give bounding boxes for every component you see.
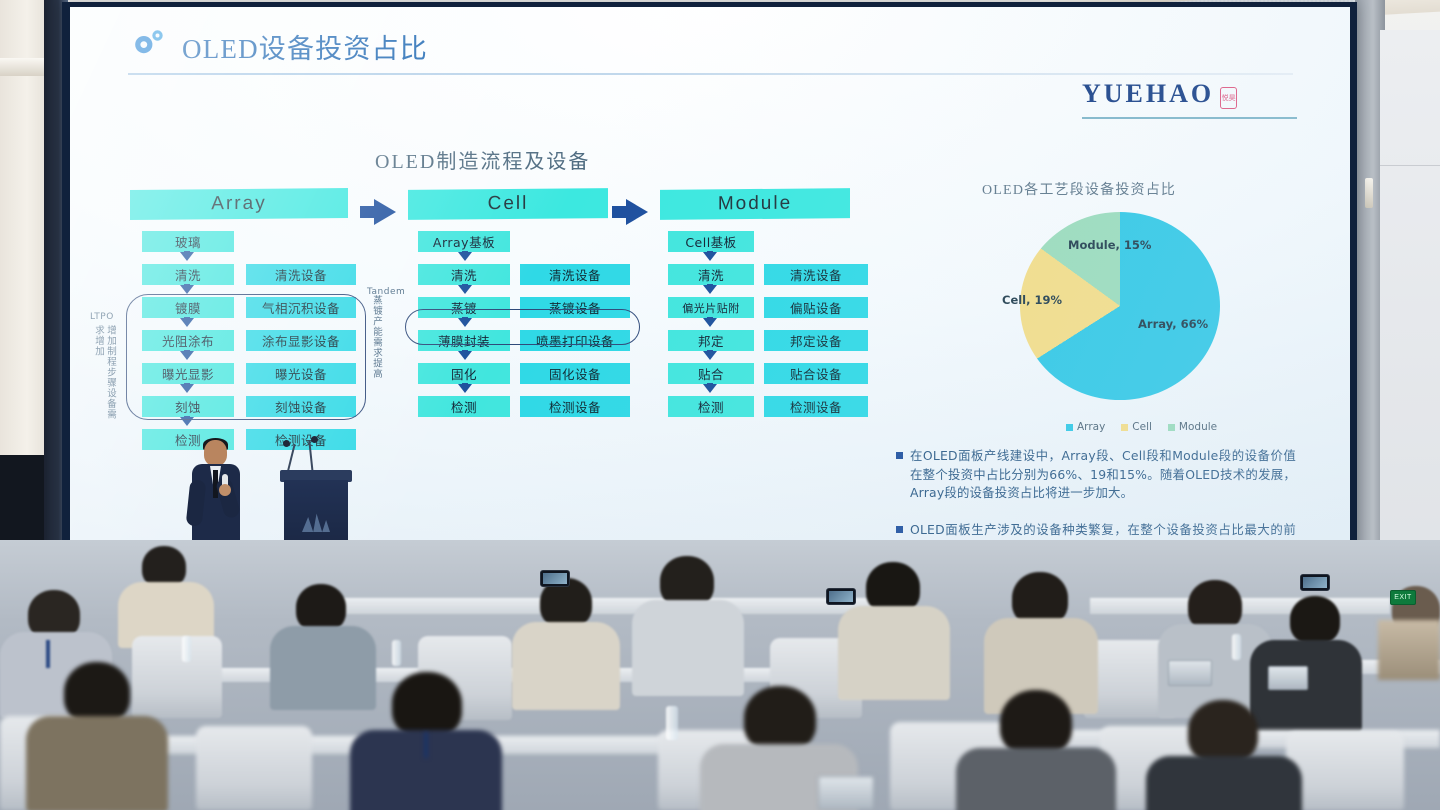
podium-mic-head-right [311,436,318,443]
lanyard [46,640,50,668]
audience-area [0,540,1440,810]
flow-row: 贴合 贴合设备 [660,363,850,396]
side-note-array: 增加制程步骤设备需求增加 [92,325,116,429]
side-note-cell: 蒸镀产能需求提高 [370,295,382,399]
stage-header-module: Module [660,188,850,220]
stage-connector-arrow-1 [374,199,396,225]
audience-shoulders [26,716,168,810]
pie-label-array: Array, 66% [1138,317,1208,331]
phone[interactable] [826,588,856,605]
chair [196,726,312,810]
audience-head [1188,700,1258,764]
audience-shoulders [270,626,376,710]
equipment-box: 检测设备 [764,396,868,417]
process-box: 清洗 [668,264,754,285]
equipment-box: 固化设备 [520,363,630,384]
equipment-box: 清洗设备 [246,264,356,285]
phone-screen [543,573,567,584]
legend-label-array: Array [1077,421,1105,433]
flow-row: 邦定 邦定设备 [660,330,850,363]
audience-head [1000,690,1072,756]
projection-screen: OLED设备投资占比 YUEHAO 悦昊 OLED制造流程及设备 Array 玻… [70,7,1350,585]
podium-mic-head-left [283,440,290,447]
phone-screen [829,591,853,602]
flow-row: 清洗 清洗设备 [408,264,608,297]
arrow-down-icon [703,252,717,261]
phone-screen [1303,577,1327,588]
audience-shoulders [1146,756,1302,810]
process-box: 贴合 [668,363,754,384]
flow-row: 偏光片贴附 偏贴设备 [660,297,850,330]
arrow-down-icon [703,285,717,294]
bullet-marker-icon [896,452,903,459]
laptop[interactable] [818,776,874,810]
process-box: 玻璃 [142,231,234,252]
audience-head [744,686,816,752]
wall-sconce [1365,178,1373,208]
arrow-down-icon [458,384,472,393]
highlight-ring-array [126,294,366,420]
chart-title: OLED各工艺段设备投资占比 [982,179,1176,199]
stage-header-array: Array [130,188,348,220]
side-note-label-ltpo: LTPO [90,312,114,322]
process-box: 偏光片贴附 [668,297,754,318]
stage-rows-module: Cell基板 清洗 清洗设备 偏光片贴附 偏贴设备 邦定 [660,231,850,429]
audience-shoulders [632,600,744,696]
audience-head [1290,596,1340,644]
water-bottle [182,636,191,662]
bullet-item: 在OLED面板产线建设中，Array段、Cell段和Module段的设备价值在整… [896,447,1296,503]
process-box: 清洗 [418,264,510,285]
arrow-down-icon [703,384,717,393]
exit-sign: EXIT [1390,590,1416,605]
legend-swatch-module [1168,424,1175,431]
process-box: 清洗 [142,264,234,285]
flow-row: 清洗 清洗设备 [130,264,348,297]
legend-item-module: Module [1168,421,1217,433]
water-bottle [666,706,678,740]
legend-swatch-cell [1121,424,1128,431]
gear-icon [128,29,168,65]
stage-connector-arrow-2 [626,199,648,225]
audience-shoulders [956,748,1116,810]
process-box: 固化 [418,363,510,384]
bullet-text: 在OLED面板产线建设中，Array段、Cell段和Module段的设备价值在整… [910,447,1296,503]
arrow-down-icon [458,252,472,261]
equipment-box: 清洗设备 [520,264,630,285]
audience-shoulders [512,622,620,710]
equipment-box: 偏贴设备 [764,297,868,318]
legend-label-module: Module [1179,421,1217,433]
pie-label-cell: Cell, 19% [1002,293,1062,307]
conference-room-photo: OLED设备投资占比 YUEHAO 悦昊 OLED制造流程及设备 Array 玻… [0,0,1440,810]
stage-header-cell: Cell [408,188,608,220]
process-box: Cell基板 [668,231,754,252]
process-box: Array基板 [418,231,510,252]
arrow-down-icon [458,351,472,360]
side-table [1378,620,1440,680]
phone[interactable] [540,570,570,587]
arrow-down-icon [703,351,717,360]
flow-row: 玻璃 [130,231,348,264]
flow-row: 清洗 清洗设备 [660,264,850,297]
legend-label-cell: Cell [1132,421,1152,433]
water-bottle [1232,634,1241,660]
arrow-down-icon [180,252,194,261]
water-bottle [392,640,401,666]
phone[interactable] [1300,574,1330,591]
slide-header: OLED设备投资占比 [128,27,428,66]
arrow-down-icon [180,285,194,294]
flow-row: 固化 固化设备 [408,363,608,396]
chair [132,636,222,718]
highlight-ring-cell [405,309,640,345]
stage-column-module: Module Cell基板 清洗 清洗设备 偏光片贴附 偏贴设备 [660,189,850,429]
equipment-box: 邦定设备 [764,330,868,351]
flow-row: Cell基板 [660,231,850,264]
flow-row: Array基板 [408,231,608,264]
side-note-array-col-a: 增加制程步骤设备需求增加 [92,325,116,429]
process-box: 检测 [668,396,754,417]
equipment-box: 检测设备 [520,396,630,417]
pie-label-module: Module, 15% [1068,238,1151,252]
presenter-hand [219,484,231,496]
table-row [330,598,890,614]
equipment-box: 清洗设备 [764,264,868,285]
wall-seam [1380,165,1440,166]
audience-head [392,672,462,738]
title-divider [128,73,1293,75]
chair [1286,732,1404,810]
flow-row: 检测 检测设备 [660,396,850,429]
brand-seal-icon: 悦昊 [1220,87,1237,109]
flow-row: 检测 检测设备 [408,396,608,429]
bullet-marker-icon [896,526,903,533]
brand-logo: YUEHAO 悦昊 [1082,79,1237,109]
legend-swatch-array [1066,424,1073,431]
presenter-head [204,440,227,466]
process-box: 邦定 [668,330,754,351]
pie-chart-legend: Array Cell Module [1066,421,1217,433]
legend-item-array: Array [1066,421,1105,433]
equipment-box: 贴合设备 [764,363,868,384]
equipment-box: 检测设备 [246,429,356,450]
lanyard [424,732,428,758]
brand-wordmark: YUEHAO [1082,79,1214,109]
legend-item-cell: Cell [1121,421,1152,433]
laptop[interactable] [1268,666,1308,690]
process-box: 检测 [418,396,510,417]
side-note-cell-col-a: 蒸镀产能需求提高 [370,295,382,379]
arrow-down-icon [458,285,472,294]
flow-diagram-heading: OLED制造流程及设备 [375,145,590,174]
audience-shoulders [838,606,950,700]
arrow-down-icon [703,318,717,327]
laptop[interactable] [1168,660,1212,686]
slide-title: OLED设备投资占比 [182,27,428,66]
pie-chart: Array, 66% Cell, 19% Module, 15% [1020,212,1250,412]
audience-head [296,584,346,632]
audience-head [64,662,130,724]
brand-divider [1082,117,1297,119]
